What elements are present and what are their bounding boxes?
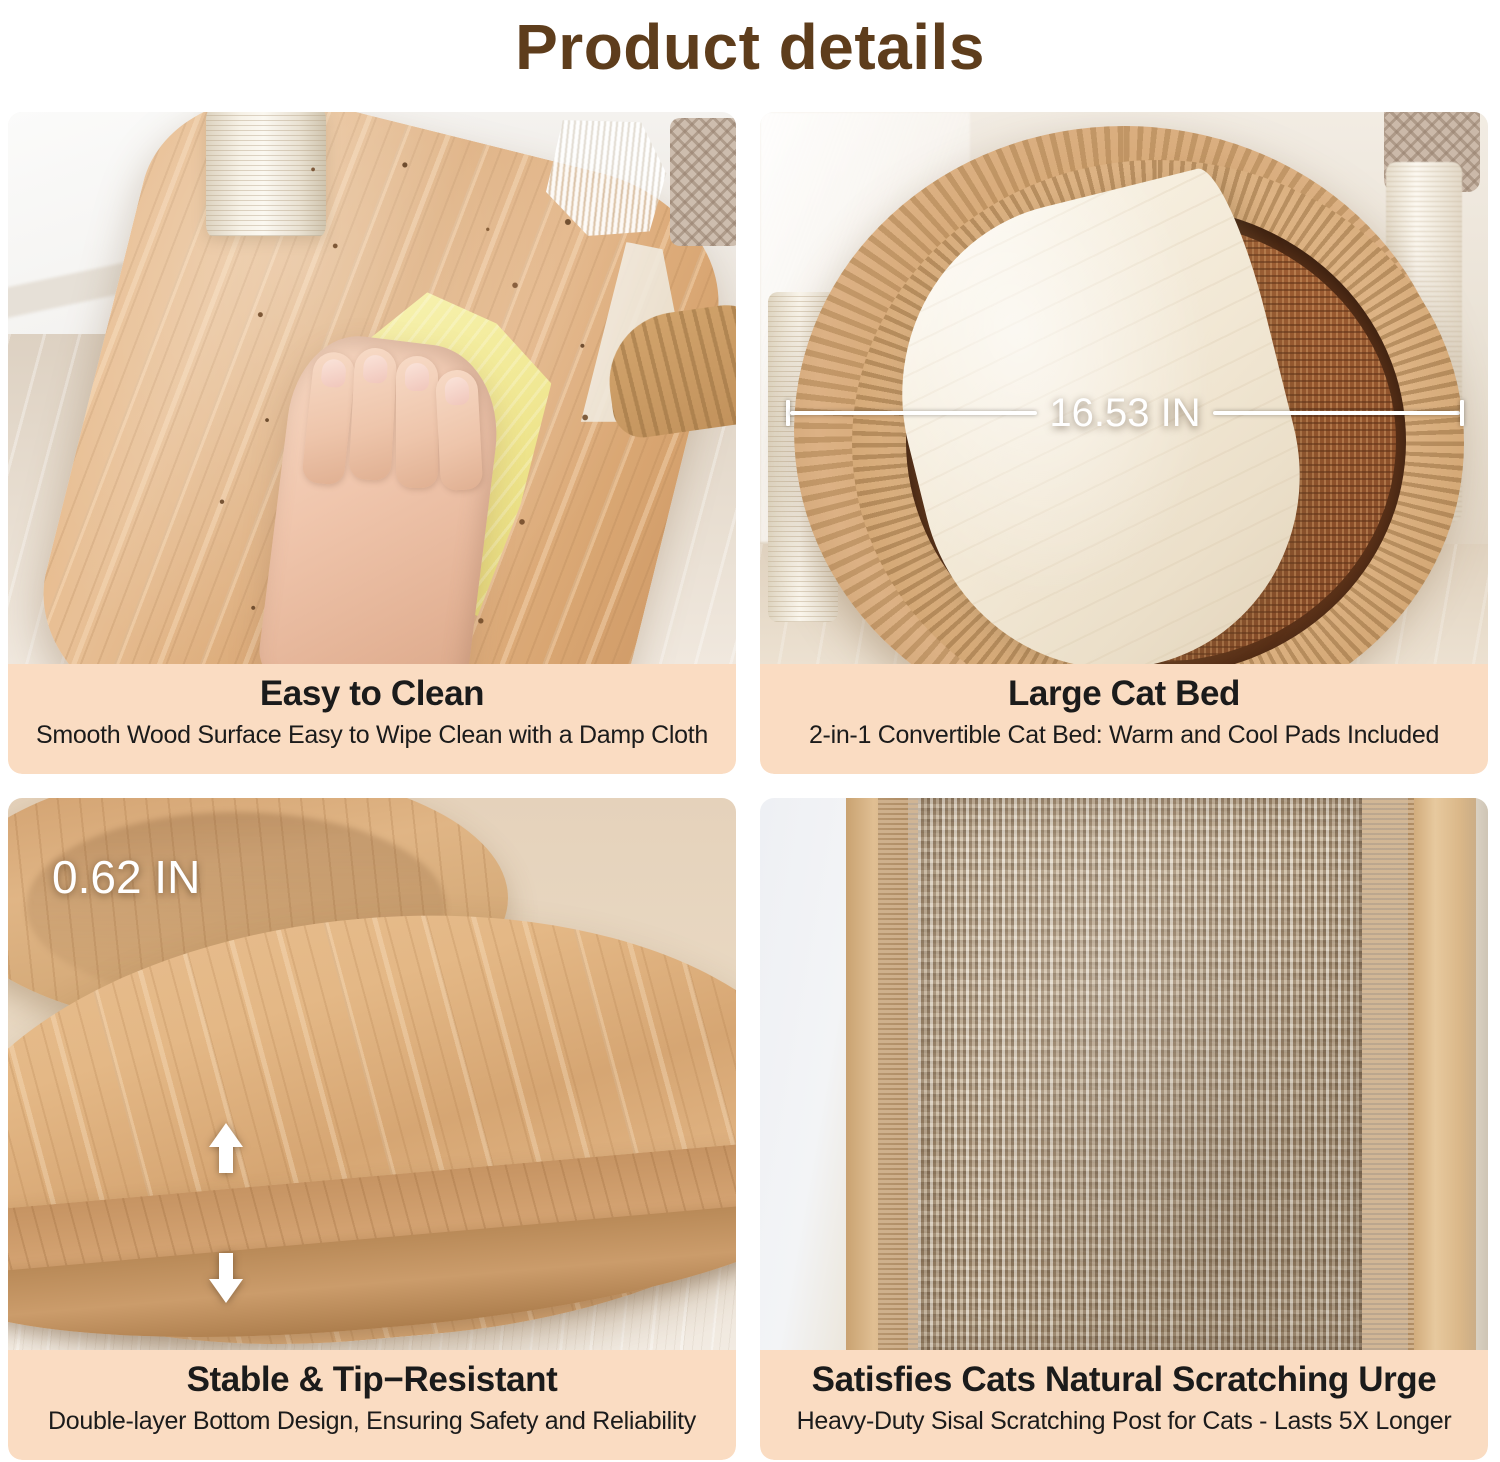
caption-subtitle: Double-layer Bottom Design, Ensuring Saf… xyxy=(8,1404,736,1438)
product-feature-card[interactable]: Satisfies Cats Natural Scratching Urge H… xyxy=(760,798,1488,1460)
page-title: Product details xyxy=(0,0,1500,100)
product-feature-card[interactable]: Easy to Clean Smooth Wood Surface Easy t… xyxy=(8,112,736,774)
stable-base-photo: 0.62 IN xyxy=(8,798,736,1350)
fingernail xyxy=(405,363,429,391)
caption-block: Large Cat Bed 2-in-1 Convertible Cat Bed… xyxy=(760,664,1488,774)
caption-title: Easy to Clean xyxy=(8,670,736,718)
sisal-weave-surface xyxy=(918,798,1362,1350)
caption-title: Satisfies Cats Natural Scratching Urge xyxy=(760,1356,1488,1404)
sisal-scratcher-photo xyxy=(760,798,1488,1350)
finger xyxy=(349,347,398,481)
caption-subtitle: Heavy-Duty Sisal Scratching Post for Cat… xyxy=(760,1404,1488,1438)
dimension-label: 0.62 IN xyxy=(52,850,200,904)
sisal-fringe-right xyxy=(1356,798,1414,1350)
finger xyxy=(396,356,438,488)
caption-title: Large Cat Bed xyxy=(760,670,1488,718)
fingernail xyxy=(363,354,388,383)
sisal-fringe-left xyxy=(878,798,922,1350)
caption-subtitle: 2-in-1 Convertible Cat Bed: Warm and Coo… xyxy=(760,718,1488,752)
caption-subtitle: Smooth Wood Surface Easy to Wipe Clean w… xyxy=(8,718,736,752)
caption-block: Stable & Tip−Resistant Double-layer Bott… xyxy=(8,1350,736,1460)
product-detail-grid: Easy to Clean Smooth Wood Surface Easy t… xyxy=(8,112,1492,1462)
caption-block: Satisfies Cats Natural Scratching Urge H… xyxy=(760,1350,1488,1460)
large-cat-bed-photo: 16.53 IN xyxy=(760,112,1488,664)
finger xyxy=(435,369,483,491)
fingernail xyxy=(320,358,347,388)
caption-block: Easy to Clean Smooth Wood Surface Easy t… xyxy=(8,664,736,774)
edge-shadow xyxy=(1460,798,1488,1350)
caption-title: Stable & Tip−Resistant xyxy=(8,1356,736,1404)
mesh-panel xyxy=(670,118,736,246)
product-feature-card[interactable]: 16.53 IN Large Cat Bed 2-in-1 Convertibl… xyxy=(760,112,1488,774)
easy-to-clean-photo xyxy=(8,112,736,664)
product-feature-card[interactable]: 0.62 IN Stable & Tip−Resistant Double-la… xyxy=(8,798,736,1460)
fingernail xyxy=(444,376,469,405)
